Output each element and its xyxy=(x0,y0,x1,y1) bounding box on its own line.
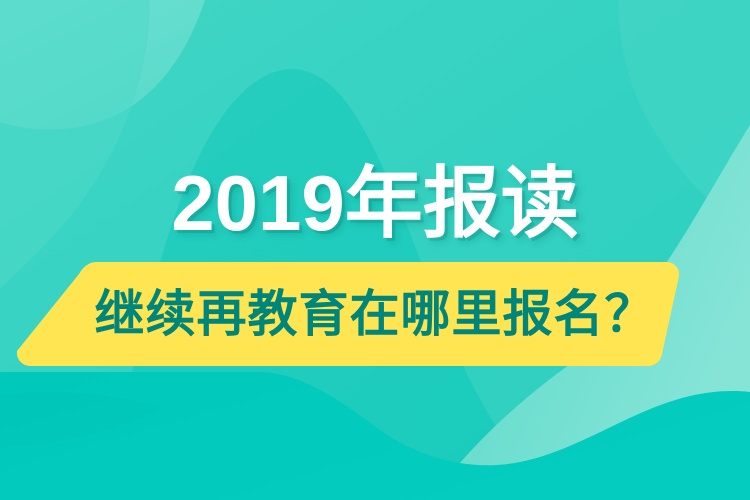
subheadline-text: 继续再教育在哪里报名？ xyxy=(0,262,750,366)
promo-banner: 2019年报读 继续再教育在哪里报名？ xyxy=(0,0,750,500)
page-title: 2019年报读 xyxy=(0,160,750,246)
subheadline-banner: 继续再教育在哪里报名？ xyxy=(0,262,750,370)
background-waves xyxy=(0,0,750,500)
